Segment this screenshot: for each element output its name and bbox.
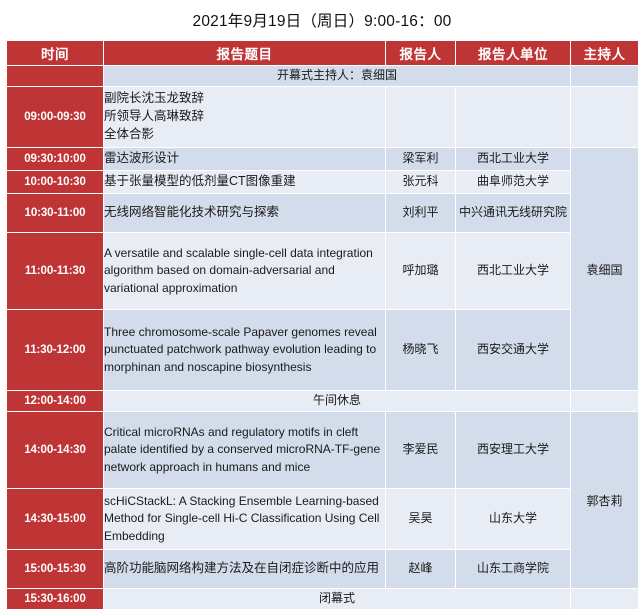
column-header-time: 时间 (7, 41, 104, 66)
time-cell: 14:30-15:00 (7, 489, 104, 550)
time-cell: 14:00-14:30 (7, 412, 104, 489)
affiliation-cell: 西安理工大学 (456, 412, 571, 489)
affiliation-cell: 西北工业大学 (456, 148, 571, 171)
time-cell: 10:00-10:30 (7, 171, 104, 194)
topic-cell: 高阶功能脑网络构建方法及在自闭症诊断中的应用 (104, 550, 386, 589)
speaker-cell (386, 87, 456, 148)
section-label-closing: 闭幕式 (104, 589, 571, 610)
time-cell: 10:30-11:00 (7, 194, 104, 233)
topic-cell: 雷达波形设计 (104, 148, 386, 171)
topic-cell: Critical microRNAs and regulatory motifs… (104, 412, 386, 489)
speaker-cell: 李爱民 (386, 412, 456, 489)
host-cell-empty (571, 589, 639, 610)
time-cell-closing: 15:30-16:00 (7, 589, 104, 610)
table-row-opening: 开幕式主持人：袁细国 (7, 66, 639, 87)
table-row: 11:30-12:00 Three chromosome-scale Papav… (7, 310, 639, 391)
time-cell: 09:30:10:00 (7, 148, 104, 171)
affiliation-cell: 山东工商学院 (456, 550, 571, 589)
table-row: 10:00-10:30 基于张量模型的低剂量CT图像重建 张元科 曲阜师范大学 (7, 171, 639, 194)
speaker-cell: 杨晓飞 (386, 310, 456, 391)
agenda-table: 时间 报告题目 报告人 报告人单位 主持人 开幕式主持人：袁细国 09:00-0… (6, 40, 639, 610)
table-row: 14:00-14:30 Critical microRNAs and regul… (7, 412, 639, 489)
column-header-affiliation: 报告人单位 (456, 41, 571, 66)
column-header-speaker: 报告人 (386, 41, 456, 66)
time-cell-opening (7, 66, 104, 87)
affiliation-cell: 西安交通大学 (456, 310, 571, 391)
speaker-cell: 梁军利 (386, 148, 456, 171)
affiliation-cell: 曲阜师范大学 (456, 171, 571, 194)
host-cell-morning: 袁细国 (571, 148, 639, 391)
time-cell: 11:00-11:30 (7, 233, 104, 310)
speaker-cell: 赵峰 (386, 550, 456, 589)
topic-cell: Three chromosome-scale Papaver genomes r… (104, 310, 386, 391)
column-header-host: 主持人 (571, 41, 639, 66)
table-row: 09:00-09:30 副院长沈玉龙致辞 所领导人高琳致辞 全体合影 (7, 87, 639, 148)
affiliation-cell: 西北工业大学 (456, 233, 571, 310)
table-row: 10:30-11:00 无线网络智能化技术研究与探索 刘利平 中兴通讯无线研究院 (7, 194, 639, 233)
affiliation-cell (456, 87, 571, 148)
column-header-topic: 报告题目 (104, 41, 386, 66)
page-title: 2021年9月19日（周日）9:00-16：00 (0, 0, 644, 40)
topic-cell: 基于张量模型的低剂量CT图像重建 (104, 171, 386, 194)
host-cell-afternoon: 郭杏莉 (571, 412, 639, 589)
table-row: 09:30:10:00 雷达波形设计 梁军利 西北工业大学 袁细国 (7, 148, 639, 171)
affiliation-cell: 中兴通讯无线研究院 (456, 194, 571, 233)
topic-cell: A versatile and scalable single-cell dat… (104, 233, 386, 310)
table-row: 15:00-15:30 高阶功能脑网络构建方法及在自闭症诊断中的应用 赵峰 山东… (7, 550, 639, 589)
table-row: 11:00-11:30 A versatile and scalable sin… (7, 233, 639, 310)
host-cell-empty (571, 391, 639, 412)
topic-cell: 副院长沈玉龙致辞 所领导人高琳致辞 全体合影 (104, 87, 386, 148)
time-cell: 11:30-12:00 (7, 310, 104, 391)
table-row: 14:30-15:00 scHiCStackL: A Stacking Ense… (7, 489, 639, 550)
host-cell-empty (571, 87, 639, 148)
speaker-cell: 吴昊 (386, 489, 456, 550)
table-row-closing: 15:30-16:00 闭幕式 (7, 589, 639, 610)
host-cell-opening (571, 66, 639, 87)
affiliation-cell: 山东大学 (456, 489, 571, 550)
time-cell: 15:00-15:30 (7, 550, 104, 589)
speaker-cell: 张元科 (386, 171, 456, 194)
table-header-row: 时间 报告题目 报告人 报告人单位 主持人 (7, 41, 639, 66)
section-label-lunch: 午间休息 (104, 391, 571, 412)
table-row-lunch-break: 12:00-14:00 午间休息 (7, 391, 639, 412)
speaker-cell: 呼加璐 (386, 233, 456, 310)
time-cell-lunch: 12:00-14:00 (7, 391, 104, 412)
time-cell: 09:00-09:30 (7, 87, 104, 148)
section-label-opening: 开幕式主持人：袁细国 (104, 66, 571, 87)
topic-cell: 无线网络智能化技术研究与探索 (104, 194, 386, 233)
topic-cell: scHiCStackL: A Stacking Ensemble Learnin… (104, 489, 386, 550)
speaker-cell: 刘利平 (386, 194, 456, 233)
